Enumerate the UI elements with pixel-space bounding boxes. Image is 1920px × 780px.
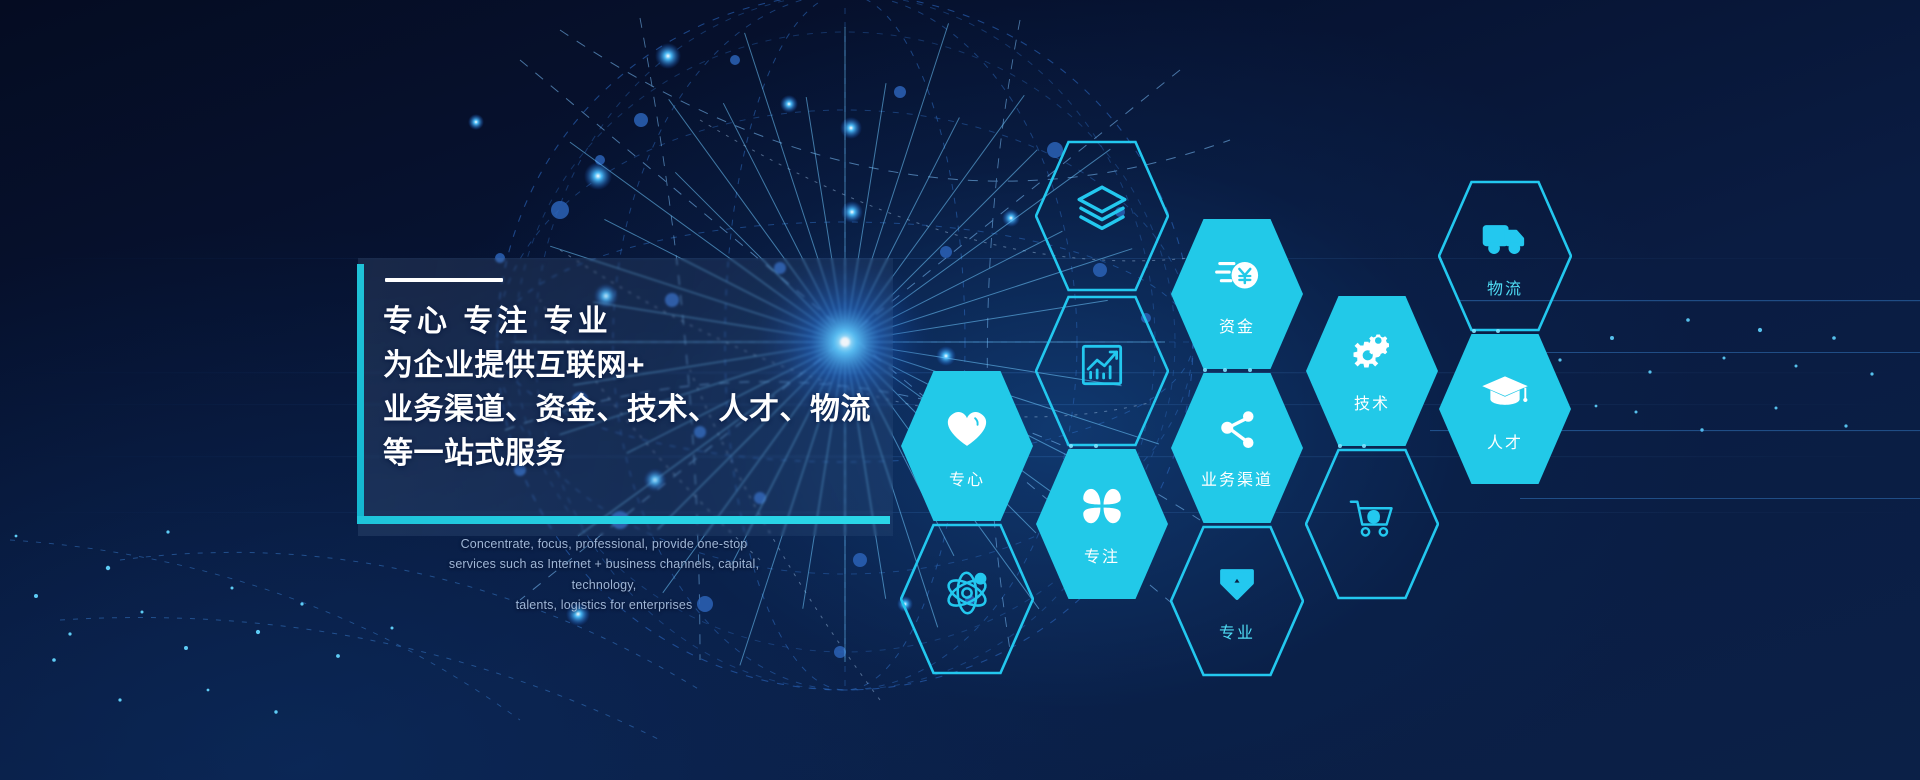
hex-tile-zhuanxin[interactable]: 专心 (900, 370, 1034, 522)
hex-label: 专心 (949, 466, 985, 490)
hex-label: 技术 (1354, 390, 1390, 414)
hex-tile-zhuanye[interactable]: 专业 (1170, 525, 1304, 677)
graduation-cap-icon (1479, 365, 1531, 422)
diamond-icon (1213, 559, 1261, 612)
svg-text:e: e (1369, 505, 1379, 525)
atom-icon (940, 566, 994, 625)
subtitle-english: Concentrate, focus, professional, provid… (424, 534, 784, 615)
chart-growth-icon (1076, 339, 1128, 396)
hex-label: 专注 (1084, 543, 1120, 567)
panel-bottom-accent-bar (357, 516, 890, 524)
hex-label: 物流 (1487, 275, 1523, 299)
subtitle-line-1: Concentrate, focus, professional, provid… (424, 534, 784, 554)
headline-line-1: 专心 专注 专业 (383, 302, 943, 342)
money-yen-icon (1212, 251, 1262, 306)
hex-tile-rencai[interactable]: 人才 (1438, 333, 1572, 485)
truck-icon (1480, 213, 1530, 268)
hex-label: 人才 (1487, 429, 1523, 453)
hex-label: 资金 (1219, 313, 1255, 337)
share-nodes-icon (1213, 406, 1261, 459)
hex-tile-zhuanzhu[interactable]: 专注 (1035, 448, 1169, 600)
layers-icon (1074, 182, 1130, 243)
heart-icon (941, 402, 993, 459)
gears-icon (1347, 328, 1397, 383)
headline-line-4: 等一站式服务 (383, 434, 943, 474)
hex-tile-ecart[interactable]: e (1305, 448, 1439, 600)
subtitle-line-2: services such as Internet + business cha… (424, 554, 784, 595)
hero-banner: 专心 专注 专业 为企业提供互联网+ 业务渠道、资金、技术、人才、物流 等一站式… (0, 0, 1920, 780)
hex-tile-layers[interactable] (1035, 140, 1169, 292)
headline-line-3: 业务渠道、资金、技术、人才、物流 (383, 390, 943, 430)
hex-tile-zijin[interactable]: 资金 (1170, 218, 1304, 370)
panel-left-accent-bar (357, 264, 364, 524)
headline-copy: 专心 专注 专业 为企业提供互联网+ 业务渠道、资金、技术、人才、物流 等一站式… (383, 278, 943, 478)
clover-icon (1077, 481, 1127, 536)
e-cart-icon: e (1346, 492, 1398, 549)
hex-label: 业务渠道 (1201, 466, 1273, 490)
hex-tile-jishu[interactable]: 技术 (1305, 295, 1439, 447)
hex-label: 专业 (1219, 619, 1255, 643)
hex-tile-wuliu[interactable]: 物流 (1438, 180, 1572, 332)
headline-line-2: 为企业提供互联网+ (383, 346, 943, 386)
subtitle-line-3: talents, logistics for enterprises (424, 595, 784, 615)
hex-tile-chart[interactable] (1035, 295, 1169, 447)
hex-tile-atom[interactable] (900, 523, 1034, 675)
divider-rule (385, 278, 503, 282)
hex-tile-yewu[interactable]: 业务渠道 (1170, 372, 1304, 524)
